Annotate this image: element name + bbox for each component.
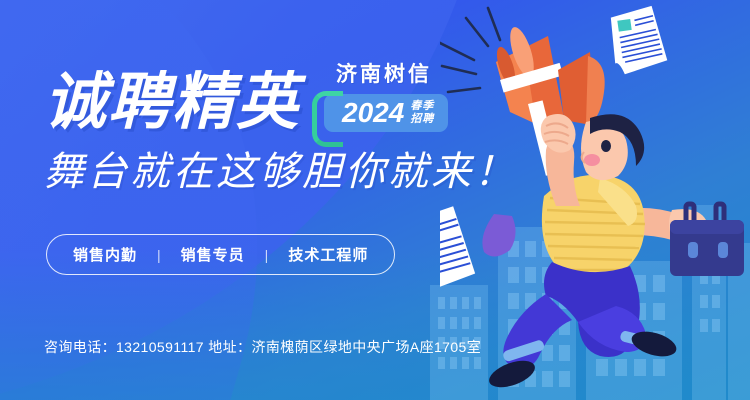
subheadline: 舞台就在这够胆你就来！ [44, 152, 517, 192]
position-item-1: 销售内勤 [73, 244, 137, 265]
position-separator: | [157, 247, 161, 263]
year-number: 2024 [342, 99, 404, 127]
positions-capsule: 销售内勤 | 销售专员 | 技术工程师 [46, 234, 395, 275]
season-line-1: 春季 [410, 100, 434, 113]
banner-content: 诚聘精英 济南树信 2024 春季 招聘 舞台就在这够胆你就来！ 销售内勤 [0, 0, 750, 400]
page-title: 诚聘精英 [44, 72, 300, 134]
season-label: 春季 招聘 [410, 100, 434, 125]
brand-badge: 济南树信 2024 春季 招聘 [314, 58, 448, 134]
year-badge: 2024 春季 招聘 [314, 94, 448, 132]
brand-name: 济南树信 [336, 58, 448, 88]
green-bracket-icon [312, 91, 343, 147]
position-separator: | [265, 247, 269, 263]
season-line-2: 招聘 [410, 113, 434, 126]
position-item-2: 销售专员 [181, 244, 245, 265]
position-item-3: 技术工程师 [288, 244, 368, 265]
headline-row: 诚聘精英 济南树信 2024 春季 招聘 [44, 58, 448, 134]
recruitment-banner: 诚聘精英 济南树信 2024 春季 招聘 舞台就在这够胆你就来！ 销售内勤 [0, 0, 750, 400]
contact-info: 咨询电话：13210591117 地址：济南槐荫区绿地中央广场A座1705室 [44, 337, 481, 357]
